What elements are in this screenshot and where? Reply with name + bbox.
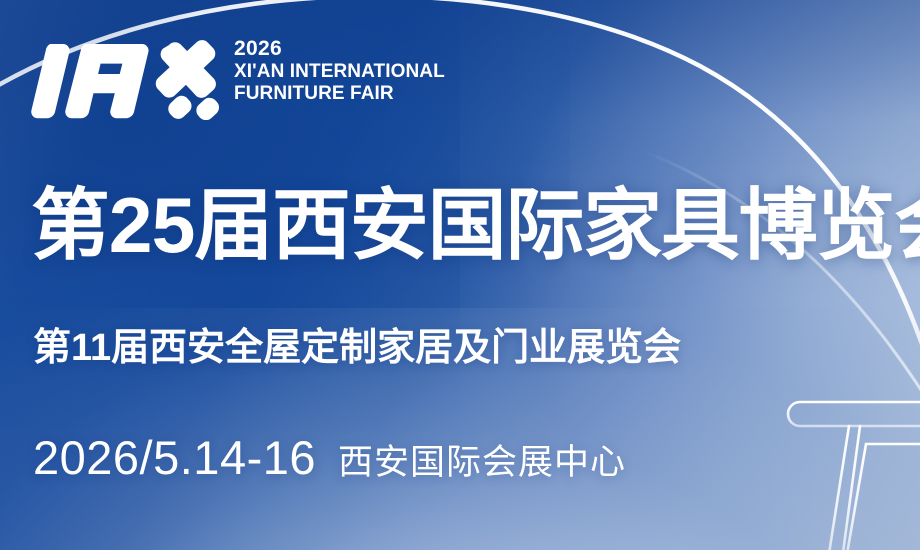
logo-lockup: 2026 XI'AN INTERNATIONAL FURNITURE FAIR	[30, 36, 445, 120]
logo-text-block: 2026 XI'AN INTERNATIONAL FURNITURE FAIR	[234, 36, 445, 105]
date-venue-line: 2026/5.14-16 西安国际会展中心	[33, 434, 626, 481]
iffx-wordmark-icon	[30, 36, 220, 120]
logo-english-line-1: XI'AN INTERNATIONAL	[234, 61, 445, 83]
sub-headline: 第11届西安全屋定制家居及门业展览会	[33, 329, 681, 367]
exhibition-poster: 2026 XI'AN INTERNATIONAL FURNITURE FAIR …	[0, 0, 920, 550]
event-dates: 2026/5.14-16	[33, 434, 316, 481]
logo-english-line-2: FURNITURE FAIR	[234, 83, 445, 105]
event-venue: 西安国际会展中心	[338, 445, 626, 480]
logo-year: 2026	[234, 38, 445, 61]
main-headline: 第25届西安国际家具博览会	[31, 186, 920, 264]
